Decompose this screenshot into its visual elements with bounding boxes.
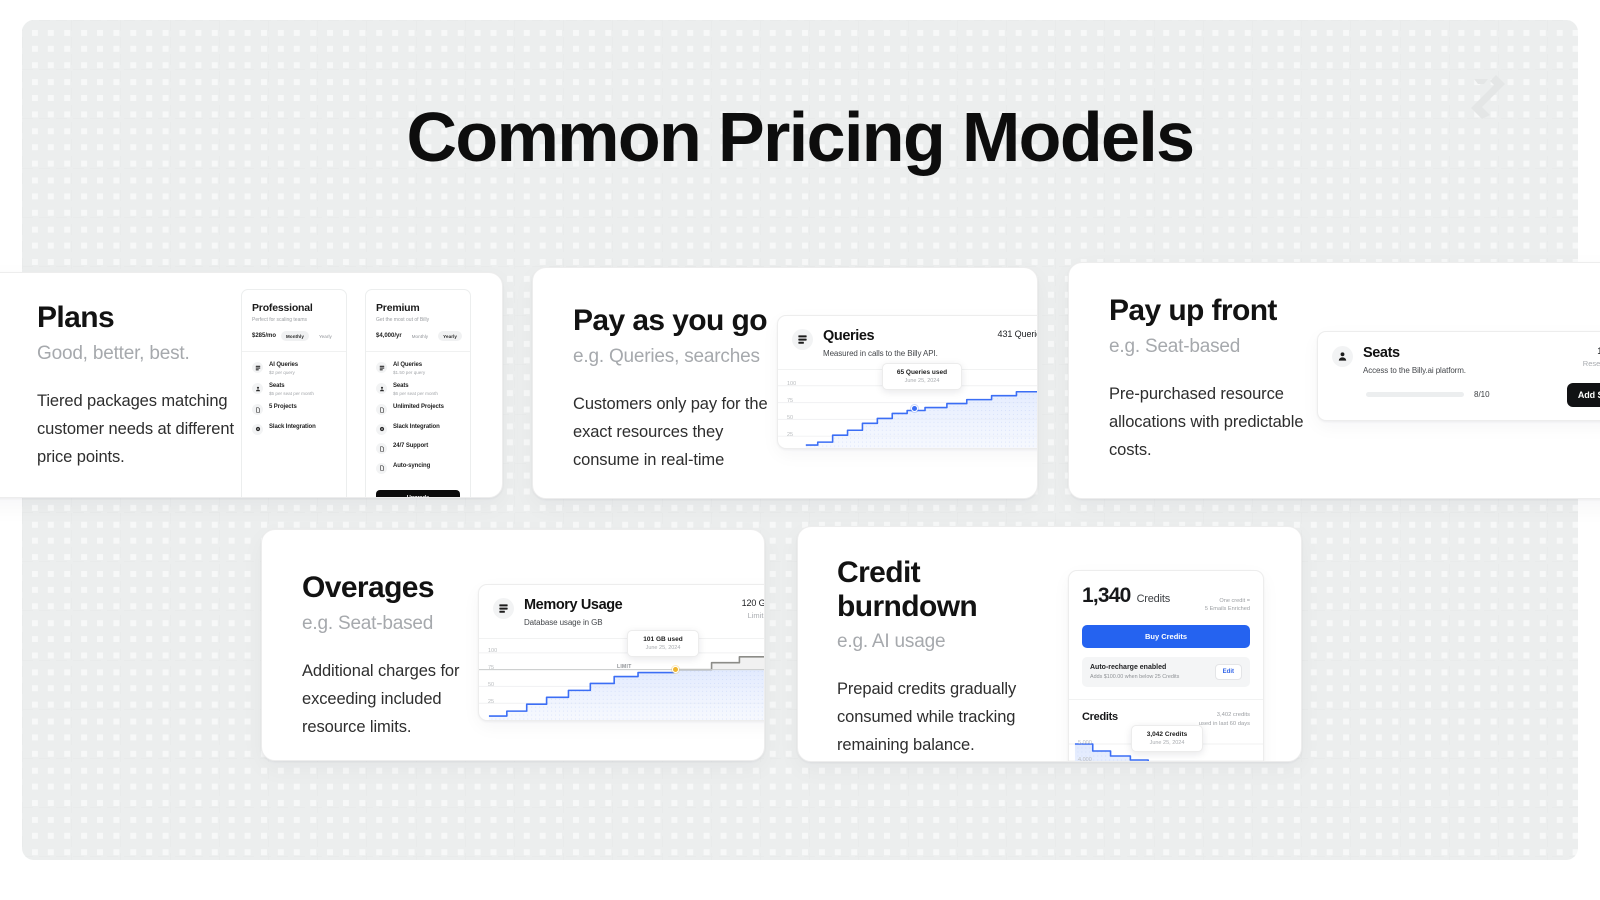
plan-cards-group: Professional Perfect for scaling teams $…: [241, 289, 471, 498]
overages-subtitle: e.g. Seat-based: [302, 613, 482, 635]
plan-feature-item: 5 Projects: [252, 404, 336, 415]
queries-icon: [376, 362, 387, 373]
chart-data-point[interactable]: [911, 405, 918, 412]
plan-feature-item: Auto-syncing: [376, 463, 460, 474]
auto-recharge-title: Auto-recharge enabled: [1090, 664, 1179, 671]
y-tick-label: 100: [488, 648, 497, 654]
billing-toggle-yearly[interactable]: Yearly: [314, 331, 337, 341]
widget-title: Memory Usage: [524, 598, 622, 613]
y-tick-label: 25: [787, 432, 793, 438]
memory-limit-stat: Limit of 80GB: [742, 611, 765, 620]
upfront-text-block: Pay up front e.g. Seat-based Pre-purchas…: [1109, 294, 1339, 464]
tooltip-value: 101 GB used: [637, 636, 689, 643]
queries-cost-stat: $431.00: [998, 342, 1038, 351]
credit-conversion-note: One credit = 5 Emails Enriched: [1205, 597, 1250, 614]
y-tick-label: 50: [787, 415, 793, 421]
credit-text-block: Credit burndown e.g. AI usage Prepaid cr…: [837, 556, 1027, 759]
seat-icon: [376, 383, 387, 394]
tooltip-value: 3,042 Credits: [1141, 731, 1193, 738]
overages-title: Overages: [302, 571, 482, 605]
queries-icon: [252, 362, 263, 373]
widget-memory-usage: Memory Usage Database usage in GB 120 GB…: [478, 584, 765, 721]
plan-feature-name: AI Queries: [269, 362, 298, 368]
payg-subtitle: e.g. Queries, searches: [573, 346, 778, 368]
y-tick-label: 100: [787, 381, 796, 387]
upfront-subtitle: e.g. Seat-based: [1109, 336, 1339, 358]
plan-feature-note: $6 per seat per month: [393, 391, 438, 396]
widget-subtitle: Database usage in GB: [524, 618, 622, 627]
plan-name: Professional: [252, 302, 336, 314]
card-pay-as-you-go: Pay as you go e.g. Queries, searches Cus…: [532, 267, 1038, 499]
plan-feature-item: 24/7 Support: [376, 443, 460, 454]
billing-toggle-yearly[interactable]: Yearly: [438, 331, 462, 341]
file-icon: [376, 404, 387, 415]
billing-toggle-monthly[interactable]: Monthly: [281, 331, 309, 341]
plan-feature-name: 5 Projects: [269, 404, 297, 410]
seat-icon: [252, 383, 263, 394]
gear-icon: [252, 424, 263, 435]
credits-amount-row: 1,340 Credits One credit = 5 Emails Enri…: [1082, 585, 1250, 614]
overages-body: Additional charges for exceeding include…: [302, 657, 482, 741]
plan-footer: Upgrade: [366, 490, 470, 498]
credits-section-note: 3,402 credits used in last 60 days: [1199, 711, 1250, 730]
tooltip-value: 65 Queries used: [892, 369, 952, 376]
y-tick-label: 5,000: [1078, 740, 1092, 746]
plan-name: Premium: [376, 302, 460, 314]
y-tick-label: 4,000: [1078, 757, 1092, 762]
plans-text-block: Plans Good, better, best. Tiered package…: [37, 301, 252, 471]
plan-card-professional[interactable]: Professional Perfect for scaling teams $…: [241, 289, 347, 498]
memory-usage-chart: 100 75 50 25 LIMIT 101 GB used June 25, …: [479, 638, 765, 721]
credits-note-line-2: used in last 60 days: [1199, 720, 1250, 729]
plan-features-list: AI Queries $2 per query Seats $5 per sea…: [242, 352, 346, 435]
widget-stats: 10 Seats Resets Dec 12: [1583, 346, 1600, 368]
tooltip-date: June 25, 2024: [1141, 740, 1193, 746]
limit-line-label: LIMIT: [617, 664, 632, 670]
plan-feature-note: $2 per query: [269, 370, 298, 375]
plan-feature-note: $5 per seat per month: [269, 391, 314, 396]
seats-progress-label: 8/10: [1474, 390, 1490, 399]
auto-recharge-description: Adds $100.00 when below 25 Credits: [1090, 674, 1179, 680]
plans-title: Plans: [37, 301, 252, 335]
y-tick-label: 75: [488, 665, 494, 671]
credits-amount-label: Credits: [1137, 593, 1170, 605]
widget-header: Queries Measured in calls to the Billy A…: [778, 316, 1038, 369]
plan-price-row: $4,000/yr Monthly Yearly: [376, 331, 460, 341]
seats-progress-bar: [1366, 392, 1464, 397]
payg-title: Pay as you go: [573, 304, 778, 338]
y-tick-label: 50: [488, 682, 494, 688]
plan-feature-item: AI Queries $2 per query: [252, 362, 336, 375]
credit-body: Prepaid credits gradually consumed while…: [837, 675, 1027, 759]
credits-amount: 1,340: [1082, 585, 1131, 606]
y-tick-label: 75: [787, 398, 793, 404]
card-pay-up-front: Pay up front e.g. Seat-based Pre-purchas…: [1068, 262, 1600, 499]
queries-icon: [493, 598, 514, 619]
memory-footer: Overage fee: $1.50/GB 40 over limit · $6…: [479, 721, 765, 722]
chart-tooltip: 3,042 Credits June 25, 2024: [1131, 725, 1203, 752]
credit-subtitle: e.g. AI usage: [837, 631, 1027, 653]
plan-features-list: AI Queries $1.50 per query Seats $6 per …: [366, 352, 470, 474]
seats-total-stat: 10 Seats: [1583, 346, 1600, 356]
card-overages: Overages e.g. Seat-based Additional char…: [261, 529, 765, 761]
plan-feature-name: Slack Integration: [393, 424, 440, 430]
tooltip-date: June 25, 2024: [637, 645, 689, 651]
plan-feature-item: Seats $5 per seat per month: [252, 383, 336, 396]
auto-recharge-box: Auto-recharge enabled Adds $100.00 when …: [1082, 657, 1250, 687]
plan-feature-item: AI Queries $1.50 per query: [376, 362, 460, 375]
plan-feature-name: Unlimited Projects: [393, 404, 444, 410]
card-credit-burndown: Credit burndown e.g. AI usage Prepaid cr…: [797, 526, 1302, 762]
card-plans: Plans Good, better, best. Tiered package…: [0, 272, 503, 498]
plan-price: $4,000/yr: [376, 333, 402, 339]
payg-body: Customers only pay for the exact resourc…: [573, 390, 778, 474]
credits-note-line-1: 3,402 credits: [1199, 711, 1250, 720]
file-icon: [252, 404, 263, 415]
queries-usage-chart: 100 75 50 25 65 Queries used June 25, 20…: [778, 369, 1038, 450]
plan-description: Get the most out of Billy: [376, 317, 460, 323]
seat-icon: [1332, 346, 1353, 367]
chart-data-point[interactable]: [672, 666, 679, 673]
file-icon: [376, 463, 387, 474]
widget-title: Queries: [823, 329, 938, 344]
plan-card-premium[interactable]: Premium Get the most out of Billy $4,000…: [365, 289, 471, 498]
upfront-title: Pay up front: [1109, 294, 1339, 328]
credit-title: Credit burndown: [837, 556, 1027, 623]
plan-feature-note: $1.50 per query: [393, 370, 425, 375]
plan-feature-name: Slack Integration: [269, 424, 316, 430]
plan-price: $285/mo: [252, 333, 276, 339]
widget-stats: 431 Queries used $431.00: [998, 329, 1038, 351]
widget-seats: Seats Access to the Billy.ai platform. 1…: [1317, 331, 1600, 421]
widget-queries: Queries Measured in calls to the Billy A…: [777, 315, 1038, 449]
chart-tooltip: 101 GB used June 25, 2024: [627, 630, 699, 657]
plans-body: Tiered packages matching customer needs …: [37, 387, 252, 471]
plan-description: Perfect for scaling teams: [252, 317, 336, 323]
widget-subtitle: Access to the Billy.ai platform.: [1363, 366, 1466, 375]
edit-auto-recharge-button[interactable]: Edit: [1215, 664, 1242, 680]
payg-text-block: Pay as you go e.g. Queries, searches Cus…: [573, 304, 778, 474]
upfront-body: Pre-purchased resource allocations with …: [1109, 380, 1339, 464]
plan-feature-item: Slack Integration: [252, 424, 336, 435]
credit-burndown-chart: 5,000 4,000 3,000 3,042 Credits June 25,…: [1069, 735, 1263, 762]
file-icon: [376, 443, 387, 454]
plan-feature-name: AI Queries: [393, 362, 425, 368]
page-title: Common Pricing Models: [0, 102, 1600, 172]
chart-svg: [479, 639, 765, 721]
memory-used-stat: 120 GB used: [742, 598, 765, 608]
conversion-line-1: One credit =: [1205, 597, 1250, 605]
add-seats-button[interactable]: Add Seats: [1567, 383, 1600, 407]
plan-feature-item: Unlimited Projects: [376, 404, 460, 415]
widget-subtitle: Measured in calls to the Billy API.: [823, 349, 938, 358]
overages-text-block: Overages e.g. Seat-based Additional char…: [302, 571, 482, 741]
chart-tooltip: 65 Queries used June 25, 2024: [882, 363, 962, 390]
plan-feature-name: Seats: [269, 383, 314, 389]
tooltip-date: June 25, 2024: [892, 378, 952, 384]
queries-icon: [792, 329, 813, 350]
gear-icon: [376, 424, 387, 435]
widget-header: Memory Usage Database usage in GB 120 GB…: [479, 585, 765, 638]
buy-credits-button[interactable]: Buy Credits: [1082, 625, 1250, 648]
plans-subtitle: Good, better, best.: [37, 343, 252, 365]
conversion-line-2: 5 Emails Enriched: [1205, 605, 1250, 613]
plan-feature-name: Auto-syncing: [393, 463, 430, 469]
billing-toggle-monthly[interactable]: Monthly: [407, 331, 433, 341]
page-root: Common Pricing Models Plans Good, better…: [0, 0, 1600, 900]
credits-top-section: 1,340 Credits One credit = 5 Emails Enri…: [1069, 571, 1263, 699]
y-tick-label: 25: [488, 699, 494, 705]
seats-reset-stat: Resets Dec 12: [1583, 359, 1600, 368]
queries-used-stat: 431 Queries used: [998, 329, 1038, 339]
seats-progress-row: 8/10 Add Seats: [1318, 375, 1600, 407]
plan-feature-name: 24/7 Support: [393, 443, 428, 449]
upgrade-button[interactable]: Upgrade: [376, 490, 460, 498]
widget-title: Seats: [1363, 346, 1466, 361]
widget-header: Seats Access to the Billy.ai platform. 1…: [1318, 332, 1600, 375]
plan-feature-item: Slack Integration: [376, 424, 460, 435]
plan-feature-item: Seats $6 per seat per month: [376, 383, 460, 396]
plan-price-row: $285/mo Monthly Yearly: [252, 331, 336, 341]
widget-stats: 120 GB used Limit of 80GB: [742, 598, 765, 620]
plan-feature-name: Seats: [393, 383, 438, 389]
plan-header: Premium Get the most out of Billy $4,000…: [366, 290, 470, 352]
credits-section-title: Credits: [1082, 711, 1118, 723]
widget-credits: 1,340 Credits One credit = 5 Emails Enri…: [1068, 570, 1264, 762]
plan-header: Professional Perfect for scaling teams $…: [242, 290, 346, 352]
